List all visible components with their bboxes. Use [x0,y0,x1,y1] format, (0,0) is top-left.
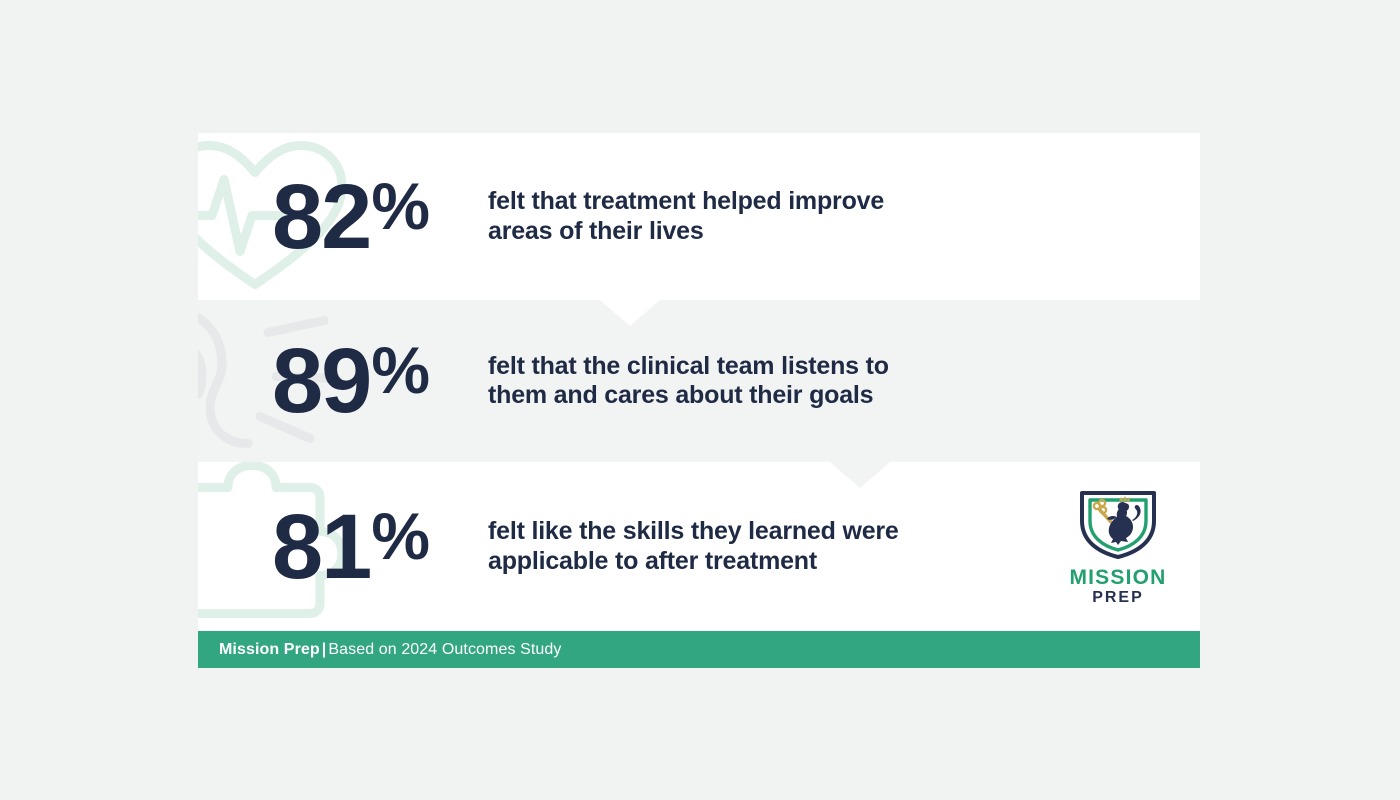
stat-percentage-1: 82 % [198,171,488,263]
stat-description-2-line-1: felt that the clinical team listens to [488,352,1180,382]
stat-description-2: felt that the clinical team listens to t… [488,352,1200,411]
source-text: Mission Prep|Based on 2024 Outcomes Stud… [198,641,562,659]
logo-wordmark-prep: PREP [1092,590,1144,606]
stat-percent-sign-2: % [371,337,430,403]
stat-row-treatment-improvement: 82 % felt that treatment helped improve … [198,133,1200,300]
stat-value-2: 89 [272,335,370,427]
source-brand-label: Mission Prep [219,641,320,658]
stat-value-3: 81 [272,501,370,593]
stat-description-1-line-2: areas of their lives [488,217,1180,247]
stat-description-1-line-1: felt that treatment helped improve [488,187,1180,217]
logo-wordmark-mission: MISSION [1069,567,1166,588]
shield-lion-key-icon [1076,487,1160,564]
stat-row-clinical-team-listens: 89 % felt that the clinical team listens… [198,300,1200,462]
source-bar: Mission Prep|Based on 2024 Outcomes Stud… [198,631,1200,668]
stat-description-2-line-2: them and cares about their goals [488,381,1180,411]
stat-description-3: felt like the skills they learned were a… [488,517,1058,576]
brand-logo: MISSION PREP [1058,487,1178,606]
stat-percent-sign-3: % [371,503,430,569]
stat-percent-sign-1: % [371,173,430,239]
stat-description-3-line-1: felt like the skills they learned were [488,517,1038,547]
stat-description-3-line-2: applicable to after treatment [488,547,1038,577]
row-connector-notch-2 [830,462,890,488]
stat-row-skills-applicable: 81 % felt like the skills they learned w… [198,462,1200,631]
infographic-card: 82 % felt that treatment helped improve … [198,133,1200,668]
source-note-label: Based on 2024 Outcomes Study [328,641,561,658]
stat-percentage-2: 89 % [198,335,488,427]
stat-value-1: 82 [272,171,370,263]
stat-percentage-3: 81 % [198,501,488,593]
row-connector-notch-1 [600,300,660,326]
stat-description-1: felt that treatment helped improve areas… [488,187,1200,246]
